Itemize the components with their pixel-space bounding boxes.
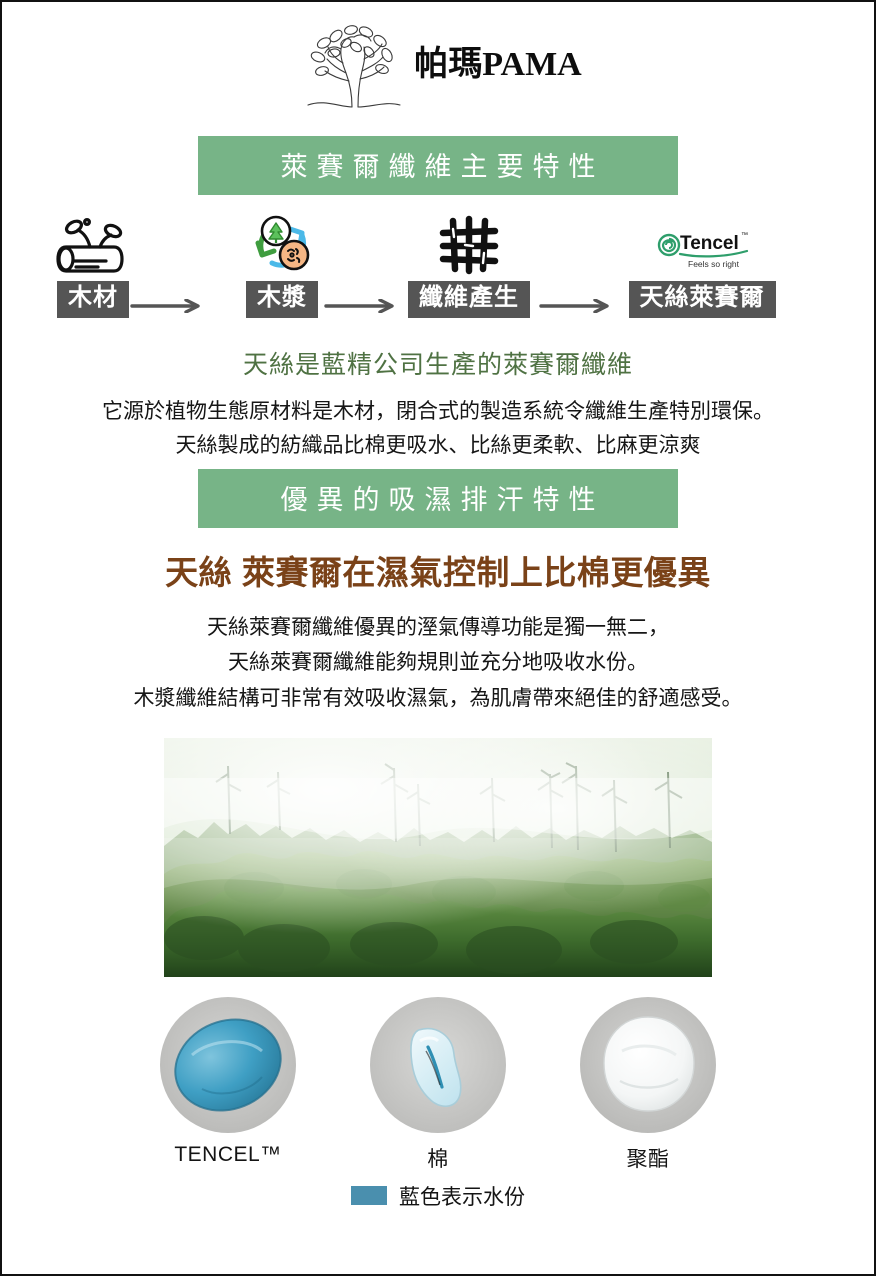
paragraph-intro-line-1: 它源於植物生態原材料是木材，閉合式的製造系統令纖維生產特別環保。 bbox=[2, 395, 874, 429]
section-banner-features: 萊賽爾纖維主要特性 bbox=[198, 136, 678, 195]
page-headline: 天絲 萊賽爾在濕氣控制上比棉更優異 bbox=[2, 546, 874, 594]
fiber-caption-polyester: 聚酯 bbox=[578, 1143, 718, 1173]
brand-name: 帕瑪PAMA bbox=[414, 48, 581, 82]
arrow-right-icon bbox=[539, 299, 613, 313]
flow-node-tencel: Tencel ™ Feels so right 天絲萊賽爾 bbox=[627, 213, 777, 318]
tencel-logo-icon: Tencel ™ Feels so right bbox=[650, 213, 754, 275]
svg-text:Feels so right: Feels so right bbox=[688, 259, 740, 269]
paragraph-moisture-line-1: 天絲萊賽爾纖維優異的溼氣傳導功能是獨一無二， bbox=[2, 610, 874, 645]
fiber-comparison: TENCEL™ bbox=[2, 995, 874, 1173]
svg-text:™: ™ bbox=[741, 232, 748, 239]
brand-logo: 帕瑪PAMA bbox=[2, 2, 874, 114]
flow-label-pulp: 木漿 bbox=[246, 281, 318, 318]
misty-forest-photo bbox=[164, 738, 712, 977]
woven-fiber-icon bbox=[437, 213, 501, 275]
tagline-green: 天絲是藍精公司生產的萊賽爾纖維 bbox=[2, 345, 874, 381]
legend: 藍色表示水份 bbox=[2, 1181, 874, 1211]
fiber-caption-tencel: TENCEL™ bbox=[158, 1143, 298, 1167]
cotton-fiber-cross-section bbox=[368, 995, 508, 1135]
fiber-item-polyester: 聚酯 bbox=[578, 995, 718, 1173]
paragraph-intro: 它源於植物生態原材料是木材，閉合式的製造系統令纖維生產特別環保。 天絲製成的紡織… bbox=[2, 395, 874, 463]
section-banner-moisture: 優異的吸濕排汗特性 bbox=[198, 469, 678, 528]
paragraph-moisture-line-3: 木漿纖維結構可非常有效吸收濕氣，為肌膚帶來絕佳的舒適感受。 bbox=[2, 681, 874, 716]
flow-node-fiber: 纖維產生 bbox=[394, 213, 544, 318]
paragraph-moisture: 天絲萊賽爾纖維優異的溼氣傳導功能是獨一無二， 天絲萊賽爾纖維能夠規則並充分地吸收… bbox=[2, 610, 874, 716]
recycle-pulp-icon bbox=[250, 213, 314, 275]
paragraph-intro-line-2: 天絲製成的紡織品比棉更吸水、比絲更柔軟、比麻更涼爽 bbox=[2, 429, 874, 463]
flow-label-fiber: 纖維產生 bbox=[408, 281, 530, 318]
tree-line-art-icon bbox=[294, 19, 414, 111]
paragraph-moisture-line-2: 天絲萊賽爾纖維能夠規則並充分地吸收水份。 bbox=[2, 645, 874, 680]
legend-blue-swatch bbox=[351, 1186, 387, 1205]
wood-log-icon bbox=[54, 213, 132, 275]
polyester-fiber-cross-section bbox=[578, 995, 718, 1135]
fiber-caption-cotton: 棉 bbox=[368, 1143, 508, 1173]
flow-label-wood: 木材 bbox=[57, 281, 129, 318]
legend-label: 藍色表示水份 bbox=[399, 1181, 525, 1211]
fiber-item-cotton: 棉 bbox=[368, 995, 508, 1173]
flow-label-tencel: 天絲萊賽爾 bbox=[629, 281, 776, 318]
fiber-item-tencel: TENCEL™ bbox=[158, 995, 298, 1167]
arrow-right-icon bbox=[130, 299, 204, 313]
poster-page: 帕瑪PAMA 萊賽爾纖維主要特性 bbox=[0, 0, 876, 1276]
process-flow: 木材 bbox=[2, 213, 874, 331]
tencel-wordmark: Tencel bbox=[680, 233, 739, 254]
tencel-fiber-cross-section bbox=[158, 995, 298, 1135]
arrow-right-icon bbox=[324, 299, 398, 313]
